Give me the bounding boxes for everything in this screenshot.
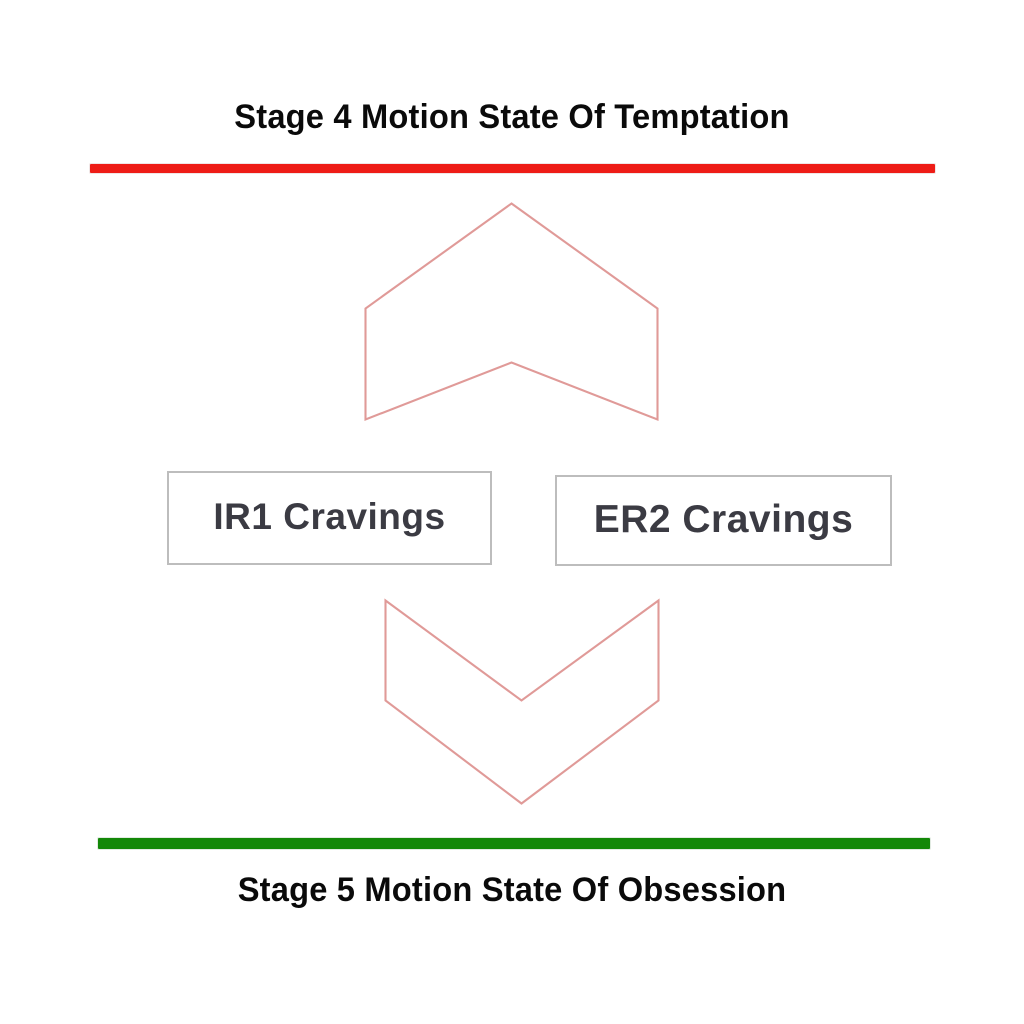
box-ir1[interactable]: IR1 Cravings xyxy=(167,471,492,565)
box-er2-label: ER2 Cravings xyxy=(594,498,854,542)
chevron-up-icon xyxy=(352,192,672,432)
box-ir1-label: IR1 Cravings xyxy=(213,496,445,538)
green-divider xyxy=(98,838,930,849)
top-stage-title: Stage 4 Motion State Of Temptation xyxy=(20,98,1003,137)
bottom-stage-title: Stage 5 Motion State Of Obsession xyxy=(20,871,1003,910)
box-er2[interactable]: ER2 Cravings xyxy=(555,475,892,566)
diagram-canvas: Stage 4 Motion State Of Temptation IR1 C… xyxy=(0,0,1024,1024)
chevron-down-icon xyxy=(372,588,672,813)
red-divider xyxy=(90,164,935,173)
